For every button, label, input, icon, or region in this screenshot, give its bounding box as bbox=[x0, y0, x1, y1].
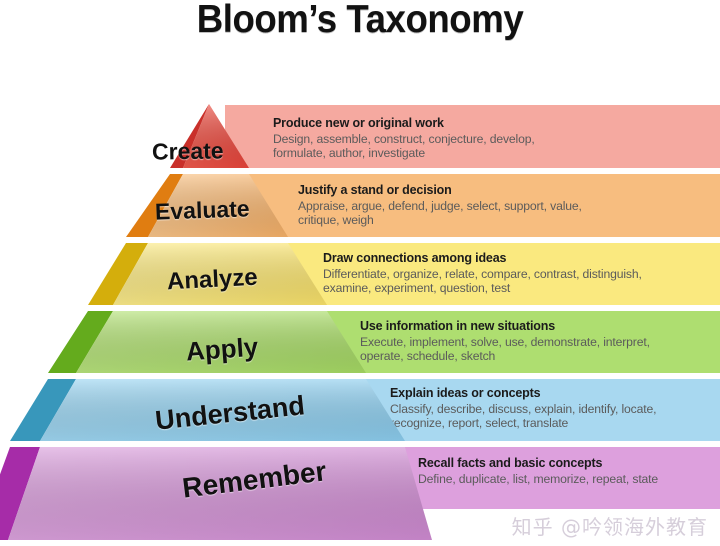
pyramid-tier-remember-top-highlight bbox=[10, 443, 408, 447]
watermark: 知乎 @吟领海外教育 bbox=[512, 511, 708, 540]
pyramid-tier-understand-top-highlight bbox=[48, 375, 369, 379]
pyramid-graphic bbox=[0, 0, 720, 546]
pyramid-tier-evaluate-top-highlight bbox=[170, 170, 252, 174]
pyramid-label-analyze: Analyze bbox=[166, 264, 258, 297]
pyramid-label-create: Create bbox=[152, 137, 224, 165]
pyramid-tier-apply-top-highlight bbox=[88, 307, 330, 311]
pyramid-label-apply: Apply bbox=[185, 332, 259, 368]
pyramid-label-evaluate: Evaluate bbox=[155, 195, 250, 225]
pyramid-tier-analyze-top-highlight bbox=[126, 239, 291, 243]
bloom-taxonomy-diagram: Bloom’s Taxonomy Produce new or original… bbox=[0, 0, 720, 546]
